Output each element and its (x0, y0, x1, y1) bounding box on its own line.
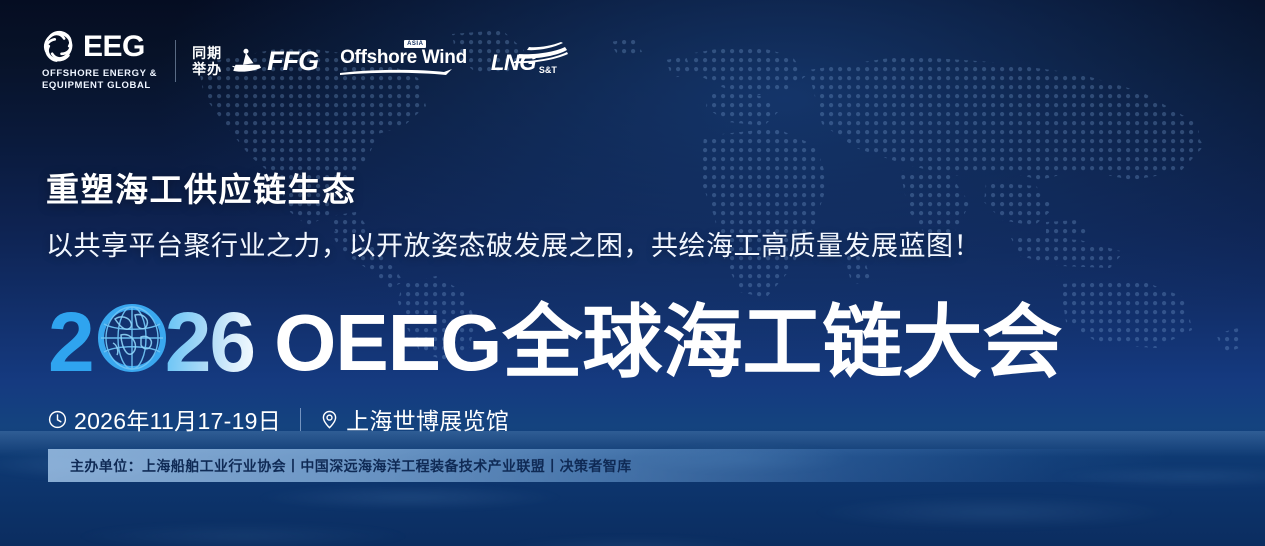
lng-logo[interactable]: LNG S&T (491, 44, 565, 78)
offshore-wind-wordmark: Offshore Wind (340, 47, 467, 69)
event-title: 2 26 (48, 297, 1062, 381)
hero-subheadline: 以共享平台聚行业之力，以开放姿态破发展之困，共绘海工高质量发展蓝图！ (46, 224, 981, 263)
offshore-wind-swoosh-icon (340, 68, 452, 76)
hero-headline: 重塑海工供应链生态 (46, 163, 357, 211)
organizer-text: 主办单位：上海船舶工业行业协会丨中国深远海海洋工程装备技术产业联盟丨决策者智库 (70, 456, 632, 476)
concurrent-label-line1: 同期 (192, 45, 222, 61)
offshore-wind-logo[interactable]: ASIA Offshore Wind (340, 47, 467, 76)
event-venue: 上海世博展览馆 (320, 402, 509, 436)
logo-divider (175, 40, 176, 82)
year-digits-26: 26 (165, 304, 254, 381)
concurrent-label-line2: 举办 (192, 61, 222, 77)
event-banner: EEG OFFSHORE ENERGY & EQUIPMENT GLOBAL 同… (0, 0, 1265, 546)
year-digit-2: 2 (48, 304, 93, 381)
ffg-logo[interactable]: FFG (231, 46, 318, 77)
lng-st-suffix: S&T (539, 65, 557, 75)
ffg-ship-icon (231, 48, 264, 74)
offshore-wind-asia-badge: ASIA (404, 40, 426, 48)
lng-wordmark: LNG (491, 50, 536, 76)
clock-icon (48, 410, 67, 429)
eeg-wordmark: EEG (83, 32, 145, 62)
event-date: 2026年11月17-19日 (48, 402, 281, 436)
location-pin-icon (320, 410, 339, 429)
eeg-logo[interactable]: EEG OFFSHORE ENERGY & EQUIPMENT GLOBAL (42, 30, 157, 92)
meta-separator (300, 408, 301, 431)
logo-bar: EEG OFFSHORE ENERGY & EQUIPMENT GLOBAL 同… (42, 30, 565, 92)
event-meta: 2026年11月17-19日 上海世博展览馆 (48, 402, 509, 436)
event-title-en: OEEG (274, 305, 501, 381)
eeg-swirl-icon (42, 30, 76, 64)
ffg-wordmark: FFG (267, 46, 318, 77)
organizer-bar: 主办单位：上海船舶工业行业协会丨中国深远海海洋工程装备技术产业联盟丨决策者智库 (48, 449, 1168, 482)
eeg-tagline-line1: OFFSHORE ENERGY & (42, 68, 157, 80)
concurrent-events-label: 同期 举办 (192, 45, 222, 77)
globe-icon (93, 297, 171, 381)
eeg-tagline-line2: EQUIPMENT GLOBAL (42, 80, 157, 92)
event-venue-text: 上海世博展览馆 (346, 402, 509, 436)
event-date-text: 2026年11月17-19日 (74, 402, 281, 436)
event-title-cn: 全球海工链大会 (502, 305, 1062, 381)
